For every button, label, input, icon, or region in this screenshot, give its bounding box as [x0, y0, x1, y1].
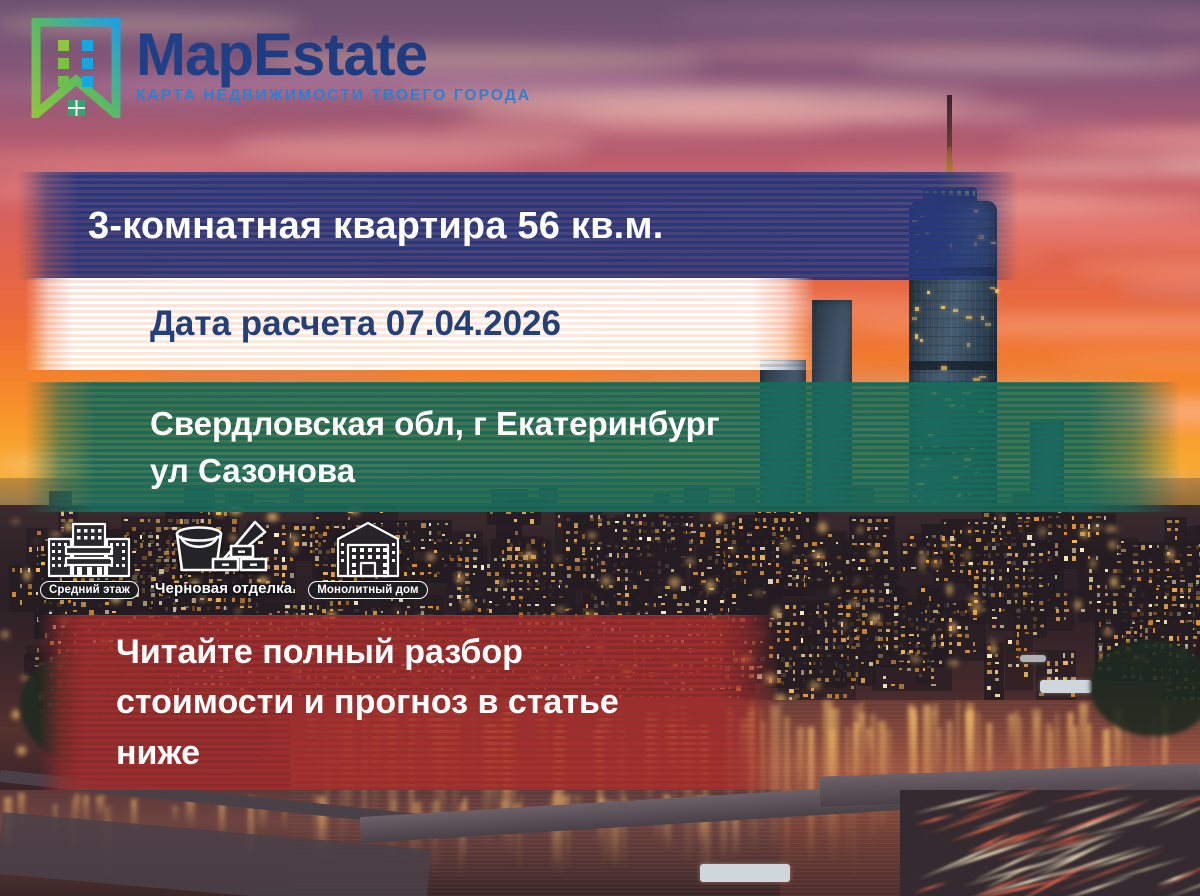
address-band-content: Свердловская обл, г Екатеринбург ул Сазо…: [25, 403, 1180, 492]
bookmark-building-icon: [30, 18, 122, 118]
cta-line-1: Читайте полный разбор: [116, 628, 778, 676]
brand-wordmark: MapEstate КАРТА НЕДВИЖИМОСТИ ТВОЕГО ГОРО…: [136, 18, 531, 105]
title-band-content: 3-комнатная квартира 56 кв.м.: [18, 205, 1018, 248]
cta-band-content: Читайте полный разбор стоимости и прогно…: [38, 628, 778, 777]
calculation-date: Дата расчета 07.04.2026: [150, 304, 815, 344]
cta-line-3: ниже: [116, 729, 778, 777]
date-band: Дата расчета 07.04.2026: [25, 278, 815, 370]
address-street: ул Сазонова: [150, 450, 1180, 491]
title-band: 3-комнатная квартира 56 кв.м.: [18, 172, 1018, 280]
page-title: 3-комнатная квартира 56 кв.м.: [88, 205, 1018, 248]
river-boat: [700, 864, 790, 882]
paint-bucket-trowel-bricks-icon: [169, 518, 279, 576]
badge-label-chernovaya-otdelka: Черновая отделка: [147, 578, 300, 599]
river-boat: [1040, 680, 1092, 693]
brand-name-map: Map: [136, 21, 253, 88]
badge-label-srednij-etazh: Средний этаж: [40, 581, 139, 599]
cta-line-2: стоимости и прогноз в статье: [116, 678, 778, 726]
river-boat: [1020, 655, 1046, 662]
feature-badges: Средний этаж: [40, 518, 428, 599]
apartment-building-icon: [46, 521, 132, 579]
monolithic-house-icon: [328, 521, 408, 579]
address-band: Свердловская обл, г Екатеринбург ул Сазо…: [25, 382, 1180, 512]
tower-belt: [909, 361, 997, 370]
brand-name: MapEstate: [136, 26, 531, 83]
brand-tagline: КАРТА НЕДВИЖИМОСТИ ТВОЕГО ГОРОДА: [136, 87, 531, 105]
badge-monolitnyj-dom[interactable]: Монолитный дом: [308, 521, 427, 599]
badge-srednij-etazh[interactable]: Средний этаж: [40, 521, 139, 599]
brand-logo[interactable]: MapEstate КАРТА НЕДВИЖИМОСТИ ТВОЕГО ГОРО…: [30, 18, 531, 118]
badge-label-monolitnyj-dom: Монолитный дом: [308, 581, 427, 599]
cta-band: Читайте полный разбор стоимости и прогно…: [38, 615, 778, 790]
brand-name-estate: Estate: [253, 21, 427, 88]
date-band-content: Дата расчета 07.04.2026: [25, 304, 815, 344]
badge-chernovaya-otdelka[interactable]: Черновая отделка: [147, 518, 300, 599]
property-promo-poster: MapEstate КАРТА НЕДВИЖИМОСТИ ТВОЕГО ГОРО…: [0, 0, 1200, 896]
address-region-city: Свердловская обл, г Екатеринбург: [150, 403, 1180, 444]
